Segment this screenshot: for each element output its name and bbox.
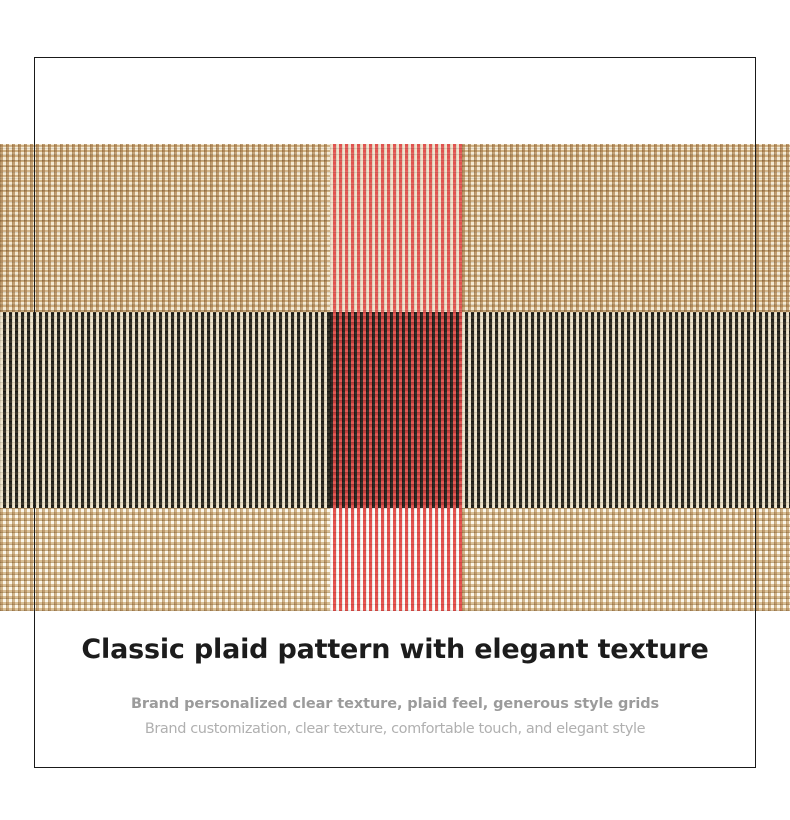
weave-weft-layer [330,144,462,312]
red-stripe-segment-bottom [330,508,462,611]
weave-weft-layer [330,312,462,508]
product-detail-page: Classic plaid pattern with elegant textu… [0,0,790,820]
caption-subtitle-secondary: Brand customization, clear texture, comf… [0,718,790,740]
caption-title: Classic plaid pattern with elegant textu… [0,630,790,670]
caption-subtitle-primary: Brand personalized clear texture, plaid … [0,692,790,716]
weave-weft-layer [330,508,462,611]
fabric-red-stripe [330,144,462,611]
caption-block: Classic plaid pattern with elegant textu… [0,630,790,740]
red-stripe-segment-top [330,144,462,312]
red-stripe-segment-middle [330,312,462,508]
plaid-fabric-image [0,144,790,611]
